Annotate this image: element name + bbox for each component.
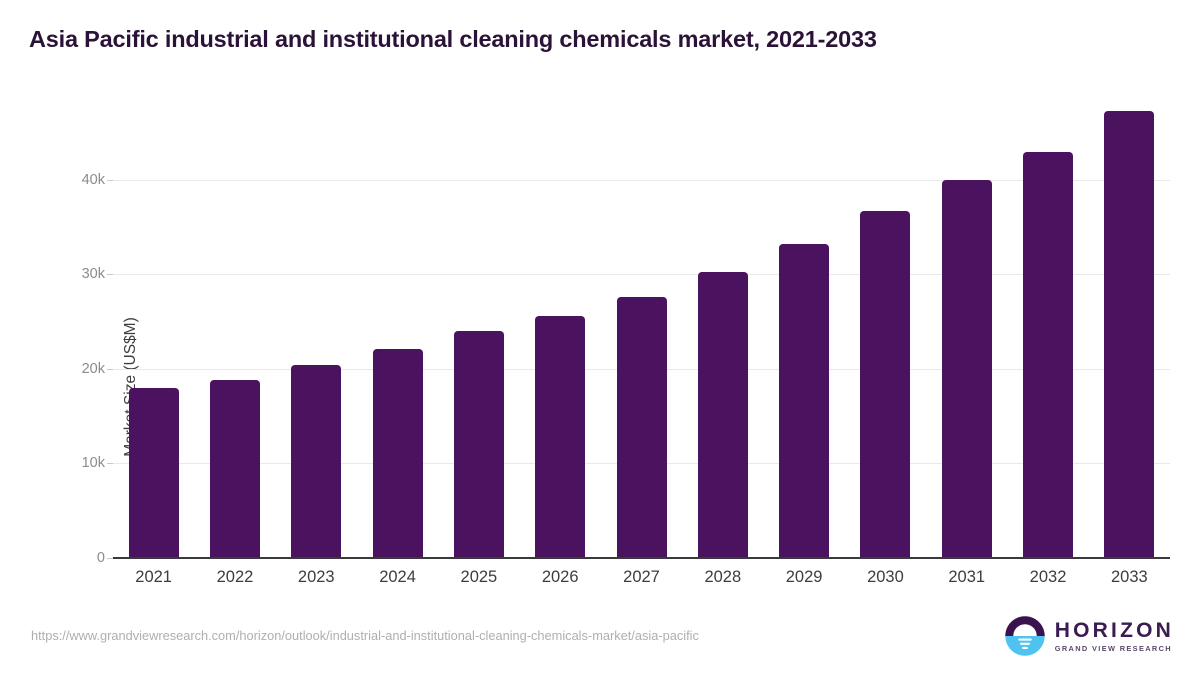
x-axis-tick-label: 2026 xyxy=(519,568,601,587)
x-axis-tick-label: 2024 xyxy=(357,568,439,587)
x-axis-tick-label: 2023 xyxy=(275,568,357,587)
gridline xyxy=(113,180,1170,181)
bar[interactable] xyxy=(535,316,585,558)
gridline xyxy=(113,274,1170,275)
logo-tagline: GRAND VIEW RESEARCH xyxy=(1055,645,1174,652)
y-axis-tick-mark xyxy=(107,274,113,275)
bar[interactable] xyxy=(860,211,910,558)
x-axis-tick-label: 2032 xyxy=(1007,568,1089,587)
source-url[interactable]: https://www.grandviewresearch.com/horizo… xyxy=(31,628,699,643)
bar[interactable] xyxy=(373,349,423,558)
y-axis-tick-labels: 010k20k30k40k xyxy=(55,90,105,558)
y-axis-tick-label: 40k xyxy=(82,172,105,188)
y-axis-tick-label: 0 xyxy=(97,550,105,566)
x-axis-tick-label: 2027 xyxy=(601,568,683,587)
y-axis-tick-mark xyxy=(107,463,113,464)
y-axis-tick-label: 20k xyxy=(82,361,105,377)
x-axis-tick-label: 2025 xyxy=(438,568,520,587)
bar[interactable] xyxy=(291,365,341,558)
bar[interactable] xyxy=(779,244,829,558)
bar[interactable] xyxy=(942,180,992,558)
y-axis-tick-label: 10k xyxy=(82,455,105,471)
page-title: Asia Pacific industrial and institutiona… xyxy=(29,26,877,53)
brand-logo[interactable]: HORIZON GRAND VIEW RESEARCH xyxy=(1004,614,1174,658)
bar[interactable] xyxy=(1104,111,1154,558)
bar[interactable] xyxy=(698,272,748,558)
bar[interactable] xyxy=(1023,152,1073,558)
logo-wordmark: HORIZON xyxy=(1055,620,1174,641)
bar[interactable] xyxy=(129,388,179,558)
bar[interactable] xyxy=(617,297,667,558)
x-axis-line xyxy=(113,557,1170,559)
y-axis-tick-label: 30k xyxy=(82,266,105,282)
x-axis-tick-label: 2031 xyxy=(926,568,1008,587)
x-axis-tick-label: 2030 xyxy=(844,568,926,587)
chart-card: Asia Pacific industrial and institutiona… xyxy=(0,0,1200,675)
x-axis-tick-label: 2029 xyxy=(763,568,845,587)
y-axis-tick-mark xyxy=(107,369,113,370)
x-axis-tick-label: 2022 xyxy=(194,568,276,587)
x-axis-tick-label: 2021 xyxy=(113,568,195,587)
logo-text: HORIZON GRAND VIEW RESEARCH xyxy=(1055,620,1174,652)
x-axis-tick-label: 2033 xyxy=(1088,568,1170,587)
bar[interactable] xyxy=(210,380,260,558)
plot-area: Market Size (US$M) xyxy=(113,90,1170,558)
horizon-sun-circle-icon xyxy=(1004,615,1046,657)
y-axis-tick-mark xyxy=(107,180,113,181)
bar[interactable] xyxy=(454,331,504,558)
x-axis-tick-label: 2028 xyxy=(682,568,764,587)
